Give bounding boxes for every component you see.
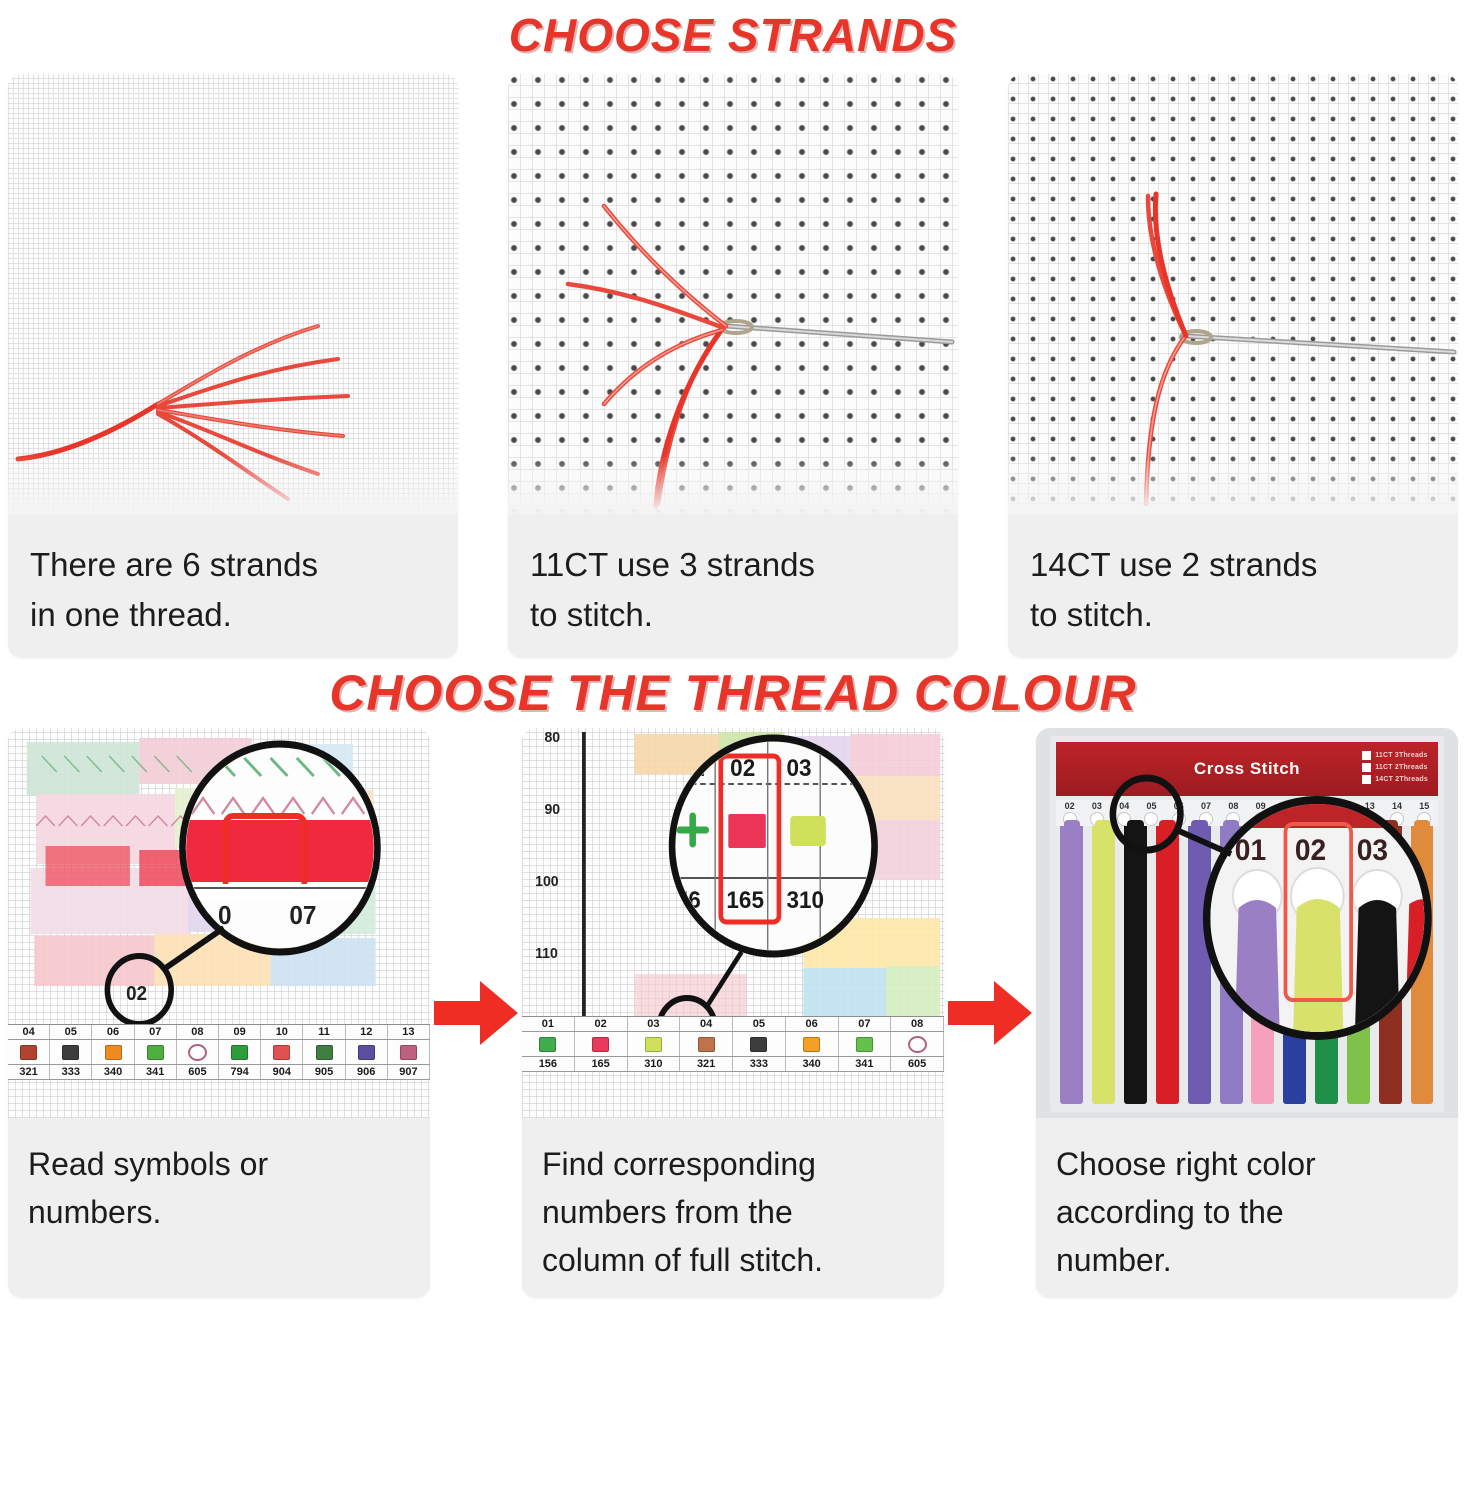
legend-symbol-swatch <box>803 1037 820 1052</box>
pattern-chart-photo: 0 07 02 04050607080910111213 32133334034… <box>8 728 430 1118</box>
caption-line-2: in one thread. <box>30 590 436 640</box>
legend-code-cell: 341 <box>839 1057 892 1071</box>
page-title-choose-thread-colour: CHOOSE THE THREAD COLOUR <box>0 658 1466 722</box>
legend-code-cell: 605 <box>177 1065 219 1079</box>
legend-number-cell: 07 <box>839 1017 892 1031</box>
legend-code-cell: 340 <box>92 1065 134 1079</box>
legend-symbol-swatch <box>231 1045 248 1060</box>
legend-symbol-swatch <box>188 1044 207 1061</box>
legend-number-cell: 04 <box>8 1025 50 1039</box>
caption-line-1: There are 6 strands <box>30 540 436 590</box>
colour-card-find-numbers: 80 90 100 110 <box>522 728 944 1298</box>
legend-symbol-cell <box>346 1040 388 1064</box>
strand-photo-plain-cloth <box>8 74 458 514</box>
legend-number-cell: 12 <box>346 1025 388 1039</box>
legend-symbol-swatch <box>750 1037 767 1052</box>
caption-line-1: Choose right color <box>1056 1140 1438 1188</box>
strand-cards-row: There are 6 strands in one thread. <box>0 74 1466 658</box>
legend-symbol-swatch <box>147 1045 164 1060</box>
caption-line-1: 11CT use 3 strands <box>530 540 936 590</box>
legend-code-cell: 333 <box>733 1057 786 1071</box>
legend-code-cell: 310 <box>628 1057 681 1071</box>
legend-code-cell: 341 <box>135 1065 177 1079</box>
axis-label-100: 100 <box>535 874 558 891</box>
strand-card-caption: 14CT use 2 strands to stitch. <box>1008 514 1458 658</box>
legend-code-row: 156165310321333340341605 <box>522 1057 944 1072</box>
legend-symbol-cell <box>522 1032 575 1056</box>
legend-number-cell: 06 <box>786 1017 839 1031</box>
axis-label-90: 90 <box>545 802 561 819</box>
legend-code-cell: 906 <box>346 1065 388 1079</box>
legend-number-cell: 01 <box>522 1017 575 1031</box>
legend-symbol-swatch <box>273 1045 290 1060</box>
legend-code-cell: 156 <box>522 1057 575 1071</box>
legend-number-cell: 03 <box>628 1017 681 1031</box>
legend-number-cell: 05 <box>50 1025 92 1039</box>
legend-symbol-cell <box>92 1040 134 1064</box>
legend-number-cell: 02 <box>575 1017 628 1031</box>
thread-organizer-photo: Cross Stitch 11CT 3Threads11CT 2Threads1… <box>1036 728 1458 1118</box>
arrow-icon <box>430 973 522 1053</box>
legend-number-row: 04050607080910111213 <box>8 1025 430 1040</box>
legend-symbol-swatch <box>20 1045 37 1060</box>
legend-number-cell: 08 <box>177 1025 219 1039</box>
legend-symbol-cell <box>177 1040 219 1064</box>
caption-line-2: to stitch. <box>1030 590 1436 640</box>
caption-line-3: number. <box>1056 1236 1438 1284</box>
legend-symbol-cell <box>628 1032 681 1056</box>
legend-symbol-swatch <box>698 1037 715 1052</box>
legend-symbol-cell <box>680 1032 733 1056</box>
strand-card-11ct: 11CT use 3 strands to stitch. <box>508 74 958 658</box>
thread-magnifier-overlay: 01 02 03 <box>1036 728 1458 1118</box>
legend-number-cell: 13 <box>388 1025 430 1039</box>
caption-line-1: Find corresponding <box>542 1140 924 1188</box>
legend-symbol-cell <box>219 1040 261 1064</box>
legend-code-cell: 907 <box>388 1065 430 1079</box>
legend-symbol-swatch <box>400 1045 417 1060</box>
legend-symbol-cell <box>839 1032 892 1056</box>
legend-code-cell: 321 <box>8 1065 50 1079</box>
strand-card-caption: There are 6 strands in one thread. <box>8 514 458 658</box>
thread-strands-illustration <box>8 74 458 514</box>
legend-number-cell: 11 <box>303 1025 345 1039</box>
caption-line-2: according to the <box>1056 1188 1438 1236</box>
legend-symbol-swatch <box>856 1037 873 1052</box>
colour-card-choose-thread: Cross Stitch 11CT 3Threads11CT 2Threads1… <box>1036 728 1458 1298</box>
legend-code-row: 321333340341605794904905906907 <box>8 1065 430 1080</box>
page-title-choose-strands: CHOOSE STRANDS <box>0 0 1466 62</box>
caption-line-1: Read symbols or <box>28 1140 410 1188</box>
legend-symbol-row <box>522 1032 944 1057</box>
legend-number-cell: 09 <box>219 1025 261 1039</box>
colour-cards-row: 0 07 02 04050607080910111213 32133334034… <box>0 728 1466 1298</box>
legend-symbol-cell <box>135 1040 177 1064</box>
legend-symbol-row <box>8 1040 430 1065</box>
colour-card-read-symbols: 0 07 02 04050607080910111213 32133334034… <box>8 728 430 1298</box>
legend-code-cell: 333 <box>50 1065 92 1079</box>
strand-card-caption: 11CT use 3 strands to stitch. <box>508 514 958 658</box>
symbol-legend-table: 04050607080910111213 3213333403416057949… <box>8 1024 430 1080</box>
legend-symbol-cell <box>261 1040 303 1064</box>
legend-code-cell: 904 <box>261 1065 303 1079</box>
legend-symbol-cell <box>388 1040 430 1064</box>
photo-bottom-fade <box>8 454 458 514</box>
legend-number-cell: 07 <box>135 1025 177 1039</box>
pattern-chart-with-axis-photo: 80 90 100 110 <box>522 728 944 1118</box>
needle-and-thread-illustration <box>508 74 958 514</box>
legend-number-cell: 10 <box>261 1025 303 1039</box>
magnifier-slot-02: 02 <box>1295 834 1326 867</box>
colour-card-caption: Find corresponding numbers from the colu… <box>522 1118 944 1298</box>
magnifier-slot-03: 03 <box>1357 834 1388 867</box>
legend-number-row: 0102030405060708 <box>522 1017 944 1032</box>
legend-number-cell: 08 <box>891 1017 944 1031</box>
strand-photo-aida-14ct <box>1008 74 1458 514</box>
legend-number-cell: 06 <box>92 1025 134 1039</box>
legend-code-cell: 340 <box>786 1057 839 1071</box>
legend-symbol-cell <box>575 1032 628 1056</box>
magnifier-col-03: 03 <box>786 754 811 781</box>
caption-line-2: numbers from the <box>542 1188 924 1236</box>
legend-symbol-cell <box>8 1040 50 1064</box>
legend-code-cell: 605 <box>891 1057 944 1071</box>
legend-symbol-cell <box>891 1032 944 1056</box>
needle-and-thread-illustration <box>1008 74 1458 514</box>
caption-line-2: numbers. <box>28 1188 410 1236</box>
arrow-icon <box>944 973 1036 1053</box>
legend-code-cell: 321 <box>680 1057 733 1071</box>
strand-card-6-strands: There are 6 strands in one thread. <box>8 74 458 658</box>
magnifier-code-310: 310 <box>786 886 824 913</box>
red-right-arrow-2 <box>944 728 1036 1298</box>
legend-symbol-cell <box>786 1032 839 1056</box>
red-right-arrow-1 <box>430 728 522 1298</box>
axis-label-110: 110 <box>535 946 558 963</box>
photo-bottom-fade <box>508 454 958 514</box>
magnifier-code-165: 165 <box>726 886 764 913</box>
legend-symbol-swatch <box>539 1037 556 1052</box>
strand-photo-aida-11ct <box>508 74 958 514</box>
legend-symbol-cell <box>303 1040 345 1064</box>
colour-card-caption: Choose right color according to the numb… <box>1036 1118 1458 1298</box>
legend-symbol-cell <box>50 1040 92 1064</box>
legend-symbol-cell <box>733 1032 786 1056</box>
legend-symbol-swatch <box>358 1045 375 1060</box>
legend-symbol-swatch <box>105 1045 122 1060</box>
legend-symbol-swatch <box>62 1045 79 1060</box>
legend-number-cell: 04 <box>680 1017 733 1031</box>
legend-symbol-swatch <box>645 1037 662 1052</box>
legend-symbol-swatch <box>316 1045 333 1060</box>
magnifier-source-label: 02 <box>126 982 147 1005</box>
caption-line-1: 14CT use 2 strands <box>1030 540 1436 590</box>
colour-card-caption: Read symbols or numbers. <box>8 1118 430 1298</box>
photo-bottom-fade <box>1008 454 1458 514</box>
caption-line-3: column of full stitch. <box>542 1236 924 1284</box>
axis-label-80: 80 <box>545 730 561 747</box>
legend-number-cell: 05 <box>733 1017 786 1031</box>
magnifier-chart-number: 07 <box>289 901 316 930</box>
symbol-legend-table: 0102030405060708 15616531032133334034160… <box>522 1016 944 1072</box>
legend-symbol-swatch <box>908 1036 927 1053</box>
legend-symbol-swatch <box>592 1037 609 1052</box>
caption-line-2: to stitch. <box>530 590 936 640</box>
legend-code-cell: 905 <box>303 1065 345 1079</box>
legend-code-cell: 165 <box>575 1057 628 1071</box>
strand-card-14ct: 14CT use 2 strands to stitch. <box>1008 74 1458 658</box>
legend-code-cell: 794 <box>219 1065 261 1079</box>
